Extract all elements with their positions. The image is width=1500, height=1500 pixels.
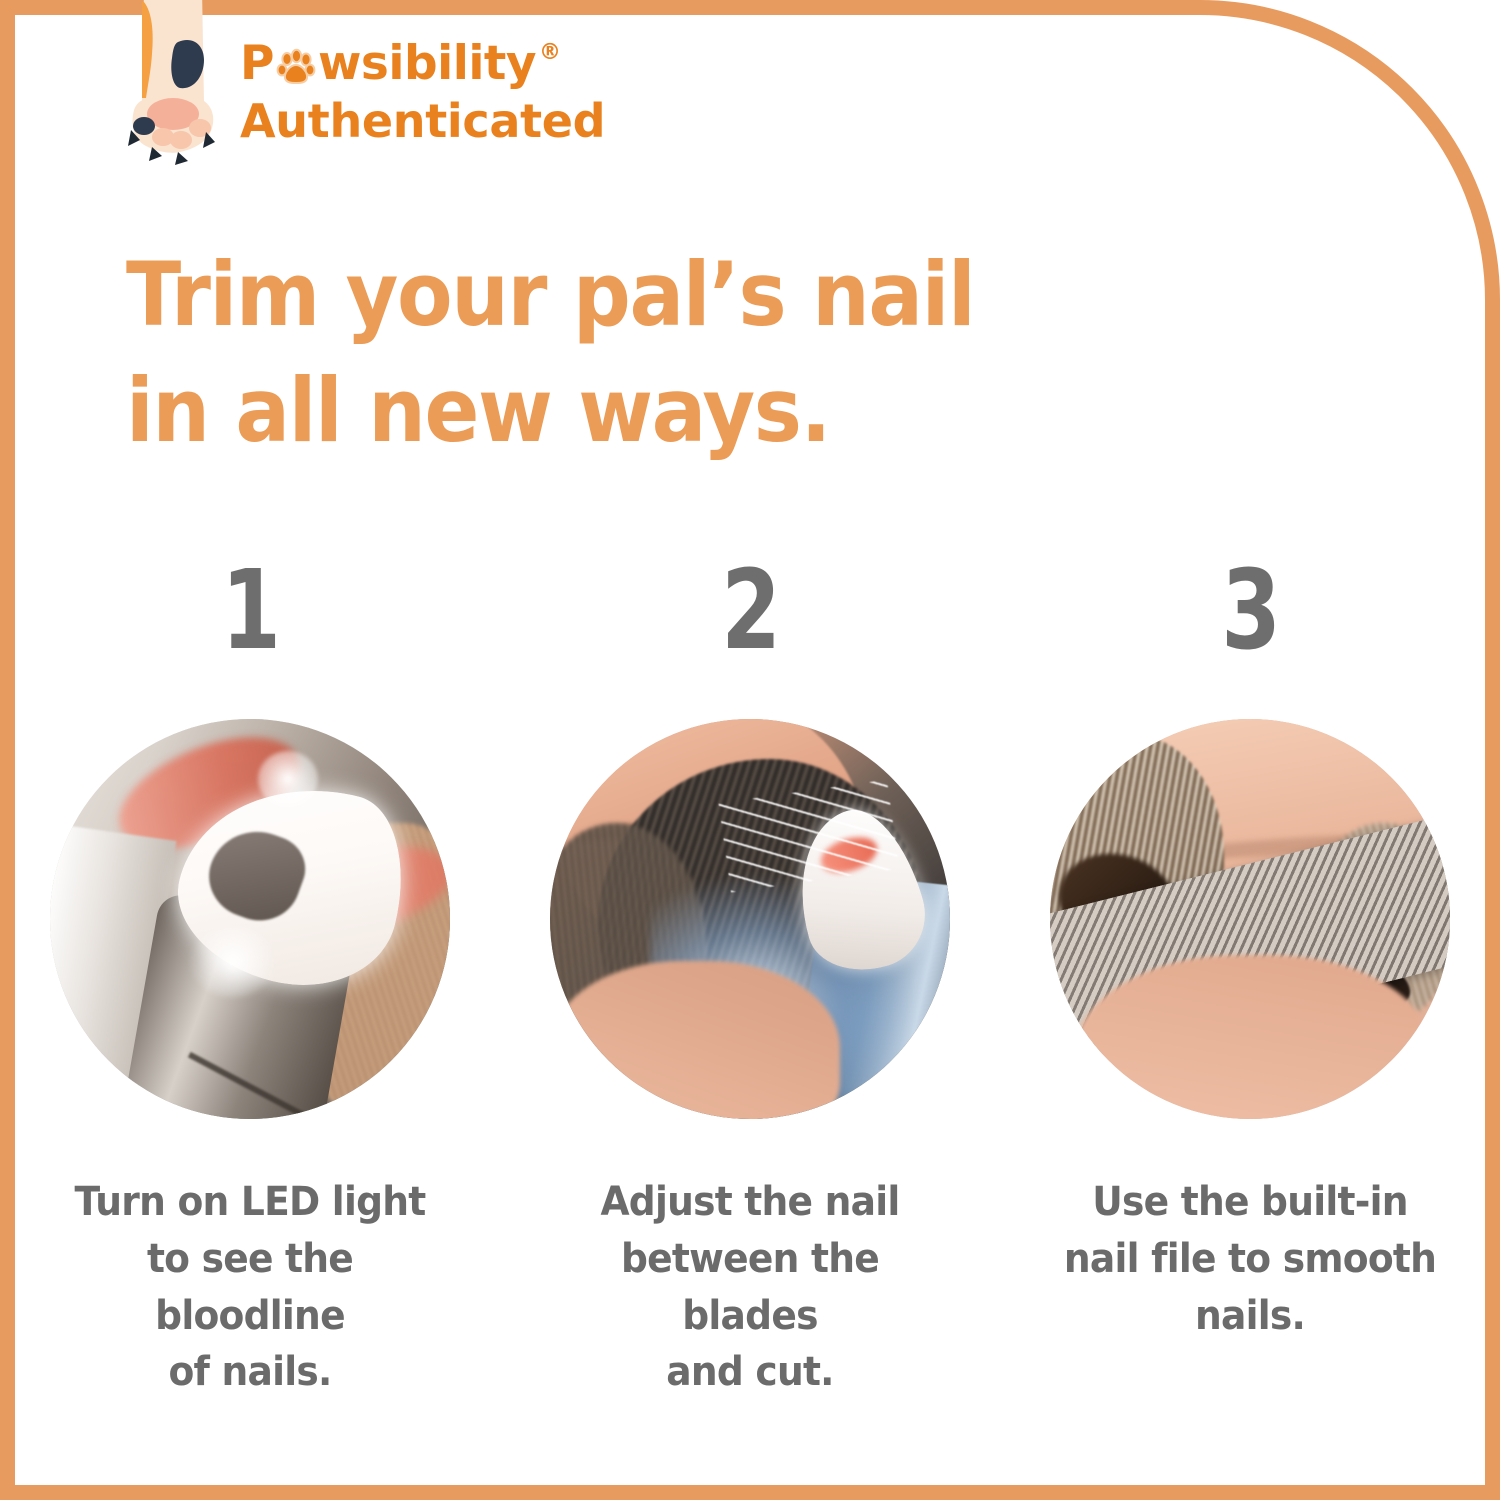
registered-trademark-icon: ® [539,42,561,64]
brand-name-suffix: wsibility [318,40,536,87]
photo-led-bloodline [50,719,450,1119]
step-2: 2 Adjust the nail between the blades and… [500,555,1000,1401]
brand-wordmark: P wsibility ® A [240,40,605,144]
cat-paw-illustration [118,0,226,166]
step-number: 3 [1221,555,1279,673]
photo-nail-between-blades [550,719,950,1119]
step-3: 3 Use the built-in nail file to smooth n… [1000,555,1500,1401]
step-1: 1 Turn on LED light to see the bloodline… [0,555,500,1401]
steps-row: 1 Turn on LED light to see the bloodline… [0,555,1500,1401]
step-number: 1 [221,555,279,673]
brand-logo: P wsibility ® A [110,10,605,166]
brand-name-prefix: P [240,40,274,87]
photo-nail-file [1050,719,1450,1119]
step-caption: Adjust the nail between the blades and c… [553,1174,948,1401]
page-headline: Trim your pal’s nail in all new ways. [126,237,974,469]
brand-name-line: P wsibility ® [240,40,605,87]
paw-print-icon [275,46,317,88]
infographic-page: P wsibility ® A [0,0,1500,1500]
brand-tagline: Authenticated [240,98,605,144]
step-caption: Turn on LED light to see the bloodline o… [53,1174,448,1401]
step-number: 2 [721,555,779,673]
step-caption: Use the built-in nail file to smooth nai… [1053,1174,1448,1344]
